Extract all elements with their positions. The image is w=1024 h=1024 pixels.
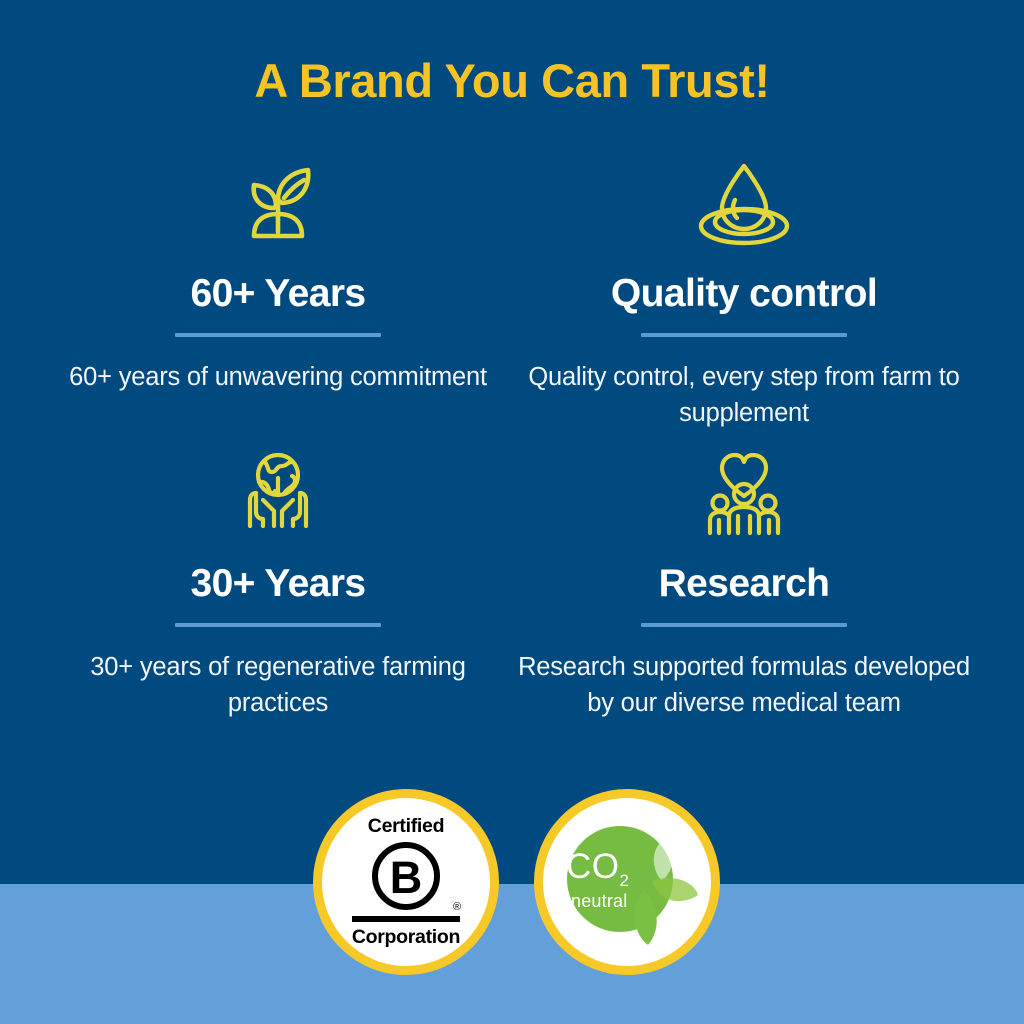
water-droplet-icon — [514, 150, 974, 250]
feature-card-research: Research Research supported formulas dev… — [514, 440, 974, 721]
co2-neutral-label: neutral — [571, 892, 629, 910]
feature-card-60-years: 60+ Years 60+ years of unwavering commit… — [48, 150, 508, 395]
feature-card-quality-control: Quality control Quality control, every s… — [514, 150, 974, 431]
page-title: A Brand You Can Trust! — [0, 52, 1024, 110]
sprout-icon — [48, 150, 508, 250]
feature-divider — [641, 623, 847, 627]
feature-divider — [175, 333, 381, 337]
bcorp-rule — [352, 916, 460, 922]
certification-badges: Certified B ® Corporation — [0, 789, 1024, 989]
bcorp-certified-label: Certified — [331, 817, 481, 837]
certified-b-corporation-badge: Certified B ® Corporation — [313, 789, 499, 975]
svg-text:B: B — [390, 852, 423, 903]
feature-heading: 60+ Years — [48, 272, 508, 316]
feature-divider — [641, 333, 847, 337]
bcorp-corporation-label: Corporation — [331, 928, 481, 948]
infographic-poster: A Brand You Can Trust! 60+ Years 60+ yea… — [0, 0, 1024, 1024]
hands-holding-globe-icon — [48, 440, 508, 540]
feature-grid: 60+ Years 60+ years of unwavering commit… — [0, 150, 1024, 770]
co2-subscript: 2 — [620, 871, 630, 890]
feature-heading: 30+ Years — [48, 562, 508, 606]
feature-heading: Research — [514, 562, 974, 606]
feature-heading: Quality control — [514, 272, 974, 316]
feature-body: Quality control, every step from farm to… — [514, 359, 974, 431]
svg-text:®: ® — [453, 901, 461, 913]
feature-body: 60+ years of unwavering commitment — [48, 359, 508, 395]
people-heart-icon — [514, 440, 974, 540]
co2-neutral-badge: CO2 neutral — [534, 789, 720, 975]
feature-body: Research supported formulas developed by… — [514, 649, 974, 721]
feature-body: 30+ years of regenerative farming practi… — [48, 649, 508, 721]
co2-text-group: CO2 neutral — [566, 849, 629, 910]
bcorp-b-mark: B ® — [331, 840, 481, 914]
feature-divider — [175, 623, 381, 627]
co2-main-text: CO — [566, 847, 620, 886]
feature-card-30-years: 30+ Years 30+ years of regenerative farm… — [48, 440, 508, 721]
